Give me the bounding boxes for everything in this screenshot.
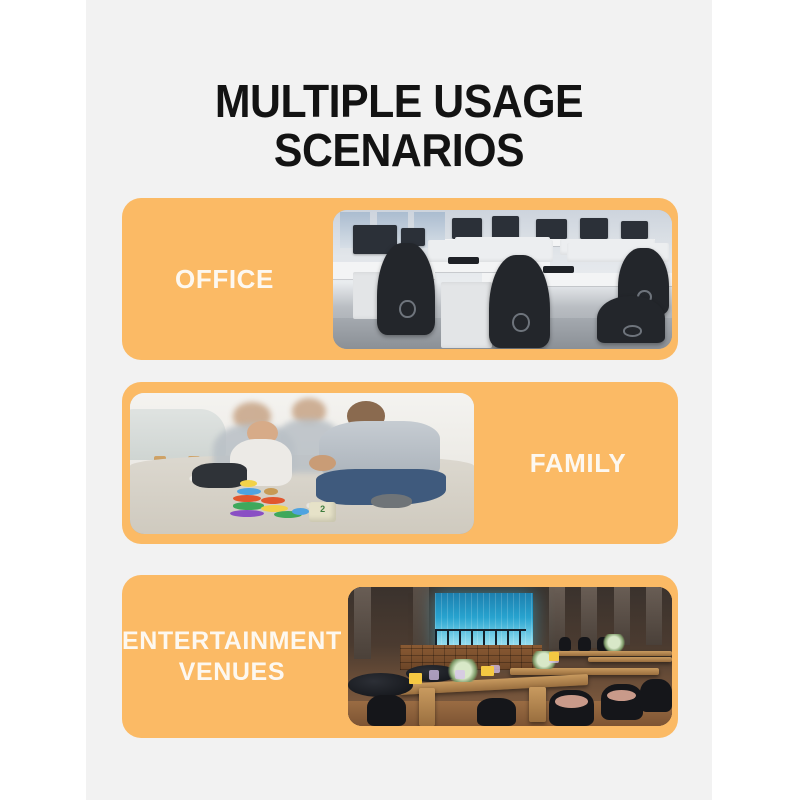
family-living-room-photo: 2 [130,393,474,534]
entertainment-venue-photo [348,587,672,726]
scenario-card-entertainment-venues[interactable]: ENTERTAINMENT VENUES [122,575,678,738]
open-plan-office-photo [333,210,672,349]
toy-block-label: 2 [309,502,337,522]
page-title: MULTIPLE USAGE SCENARIOS [108,77,690,175]
scenario-card-office[interactable]: OFFICE [122,198,678,360]
scenario-label-family: FAMILY [478,448,678,479]
page-root: MULTIPLE USAGE SCENARIOS OFFICE [0,0,800,800]
scenario-label-office: OFFICE [122,264,327,295]
content-panel: MULTIPLE USAGE SCENARIOS OFFICE [86,0,712,800]
scenario-card-family[interactable]: FAMILY [122,382,678,544]
scenario-label-entertainment-venues: ENTERTAINMENT VENUES [122,626,342,688]
